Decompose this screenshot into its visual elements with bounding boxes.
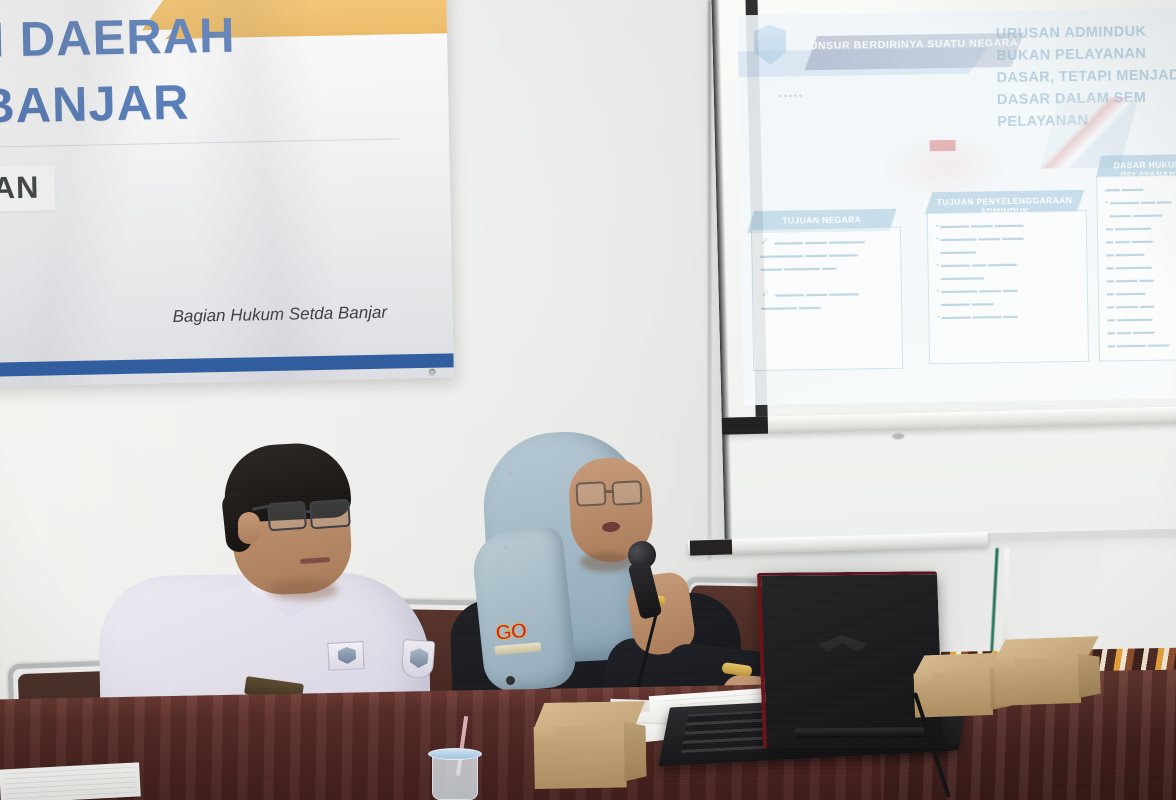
panel-lines-2: • ▬▬▬▬ ▬▬▬ ▬▬▬▬• ▬▬▬▬▬ ▬▬▬ ▬▬▬ ▬▬▬▬▬ • ▬… [928,212,1033,330]
shoulder-patch-emblem-icon [409,647,428,668]
jacket-button [506,676,515,685]
glasses-lens-left [267,501,307,532]
panel-card-1: ✓ ▬▬▬▬ ▬▬▬ ▬▬▬▬▬▬▬▬▬▬▬ ▬▬▬ ▬▬▬▬▬▬▬ ▬▬▬▬▬… [751,227,903,371]
snack-box-front [533,701,646,789]
glasses-lens-left [575,481,606,507]
laptop-brand-logo-icon [818,635,867,665]
go-patch: GO [490,616,547,661]
official-chin-shadow [268,580,338,600]
photo-scene: UNSUR BERDIRINYA SUATU NEGARA URUSAN ADM… [0,0,1176,800]
panel-card-2: • ▬▬▬▬ ▬▬▬ ▬▬▬▬• ▬▬▬▬▬ ▬▬▬ ▬▬▬ ▬▬▬▬▬ • ▬… [927,210,1089,364]
document-lines-3 [3,767,136,800]
slide-header-text: UNSUR BERDIRINYA SUATU NEGARA [804,33,1024,53]
name-badge [327,641,364,671]
snack-box-right-side [1077,653,1101,698]
check-icon: ✓ [760,236,769,248]
laptop-vent [794,727,924,738]
wall-corner-seam [708,0,711,560]
badge-emblem-icon [338,646,357,664]
document-stack-3 [0,762,141,800]
screen-bar-end-cap [720,417,768,435]
check-icon: ✓ [761,288,770,300]
official-ear [238,512,260,544]
panel-card-3: ▬▬ ▬▬▬• ▬▬▬▬ ▬▬ ▬▬ ▬▬▬ ▬▬▬▬ ▬ ▬▬▬▬▬▬ ▬▬ … [1096,174,1176,362]
event-banner: UM DAERAH N BANJAR INTAN Bagian Hukum Se… [0,0,454,391]
snack-box-right [993,636,1101,706]
banner-grommet [429,369,436,376]
presentation-slide: UNSUR BERDIRINYA SUATU NEGARA URUSAN ADM… [738,8,1176,405]
screen-bar-pin [892,433,904,439]
drink-cup-lid [428,748,482,760]
shoulder-patch [401,639,436,679]
panel-lines-3: ▬▬ ▬▬▬• ▬▬▬▬ ▬▬ ▬▬ ▬▬▬ ▬▬▬▬ ▬ ▬▬▬▬▬▬ ▬▬ … [1097,175,1176,357]
banner-fabric-folds [0,0,454,391]
panel-caption-1-text: TUJUAN NEGARA [747,209,897,226]
glasses-lens-right [309,499,351,530]
slide-header-box: UNSUR BERDIRINYA SUATU NEGARA [804,33,1025,70]
glasses-bridge [605,490,614,493]
panel-lines-1: ✓ ▬▬▬▬ ▬▬▬ ▬▬▬▬▬▬▬▬▬▬▬ ▬▬▬ ▬▬▬▬▬▬▬ ▬▬▬▬▬… [752,228,874,320]
chin-shadow [580,552,632,572]
rail-black-bracket [690,539,732,555]
go-patch-text: GO [495,619,528,646]
glasses-bridge [303,510,313,513]
screen-bottom-bar [718,406,1176,435]
snack-box-front-side [624,721,647,781]
projector-screen: UNSUR BERDIRINYA SUATU NEGARA URUSAN ADM… [711,0,1176,540]
glasses-lens-right [611,480,642,506]
map-highlight [930,140,956,151]
